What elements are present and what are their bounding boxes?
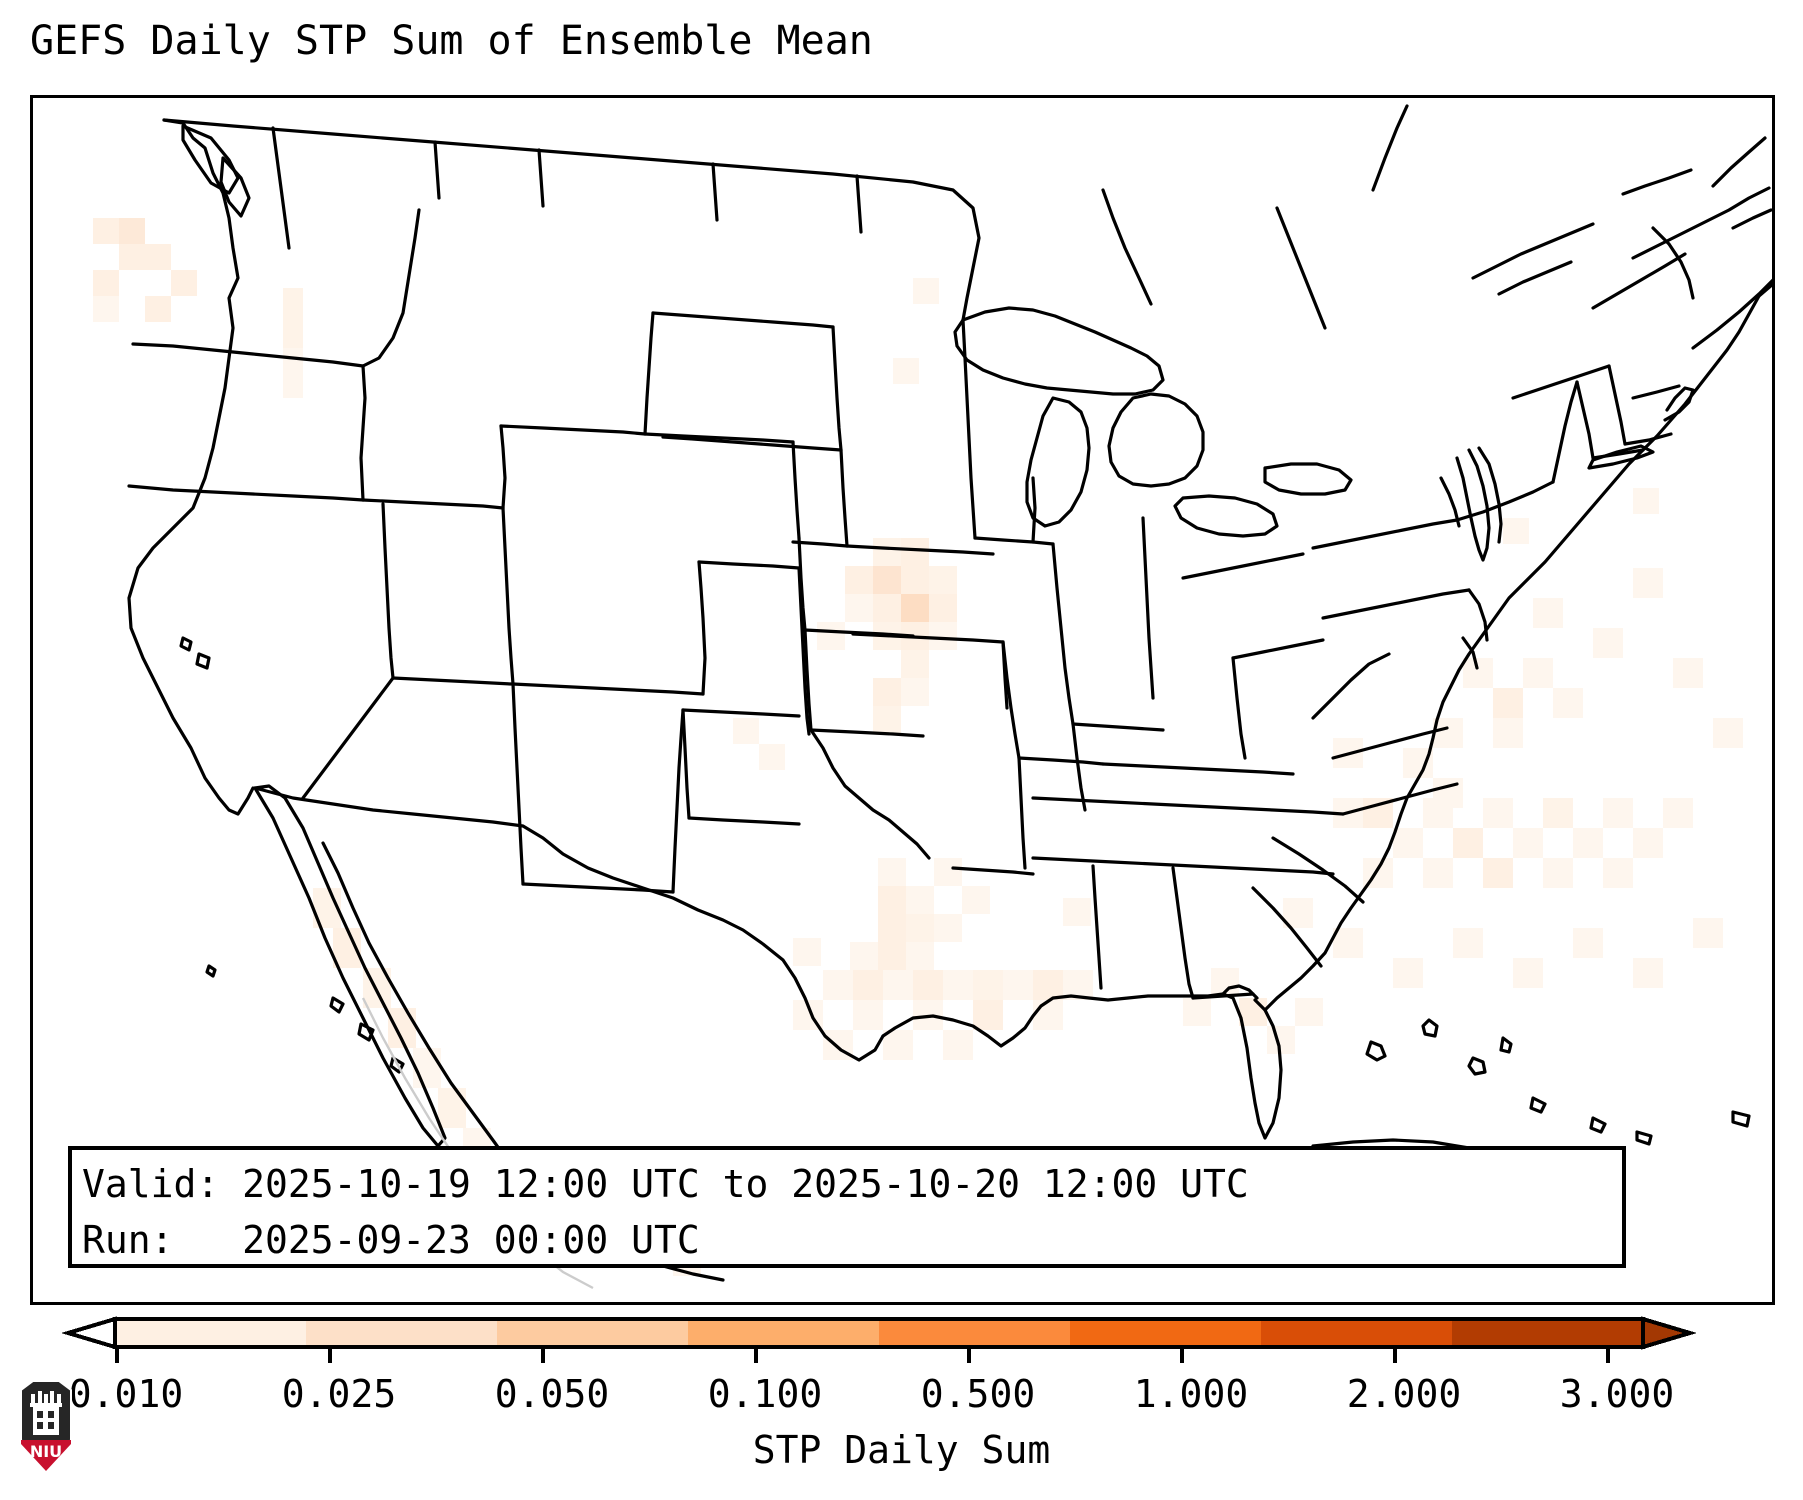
map-panel [30,95,1775,1305]
cbar-tick-1: 0.025 [282,1372,396,1416]
cbar-tick-0: 0.010 [69,1372,183,1416]
niu-logo-svg: NIU [17,1378,75,1474]
colorbar-tick-labels: 0.010 0.025 0.050 0.100 0.500 1.000 2.00… [0,1372,1803,1418]
cbar-tick-4: 0.500 [921,1372,1035,1416]
page-title: GEFS Daily STP Sum of Ensemble Mean [30,18,873,64]
map-svg [33,98,1772,1302]
map-geography-layer [129,106,1772,1302]
niu-logo: NIU [17,1378,75,1474]
colorbar [0,1311,1803,1371]
run-time-text: Run: 2025-09-23 00:00 UTC [82,1212,1622,1268]
figure-canvas: GEFS Daily STP Sum of Ensemble Mean [0,0,1803,1500]
colorbar-ticks [117,1347,1608,1363]
cbar-tick-6: 2.000 [1347,1372,1461,1416]
colorbar-bands [68,1319,1690,1347]
valid-time-text: Valid: 2025-10-19 12:00 UTC to 2025-10-2… [82,1156,1622,1212]
cbar-tick-3: 0.100 [708,1372,822,1416]
cbar-tick-5: 1.000 [1134,1372,1248,1416]
niu-logo-text: NIU [30,1442,62,1461]
niu-castle-icon [30,1391,62,1435]
cbar-tick-2: 0.050 [495,1372,609,1416]
cbar-tick-7: 3.000 [1560,1372,1674,1416]
colorbar-axis-label: STP Daily Sum [0,1428,1803,1472]
forecast-info-box: Valid: 2025-10-19 12:00 UTC to 2025-10-2… [68,1146,1626,1268]
colorbar-svg [0,1311,1803,1371]
